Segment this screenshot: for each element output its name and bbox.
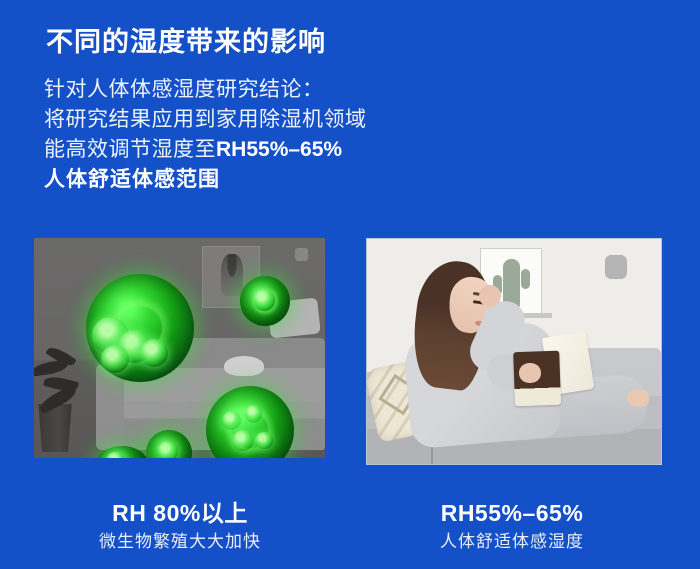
caption-left: RH 80%以上 微生物繁殖大大加快 [30, 498, 330, 555]
caption-right: RH55%–65% 人体舒适体感湿度 [362, 498, 662, 555]
caption-left-title: RH 80%以上 [30, 498, 330, 528]
copy-line-4: 人体舒适体感范围 [44, 165, 474, 195]
copy-line-3-prefix: 能高效调节湿度至 [44, 138, 216, 161]
microbe-icon [86, 274, 194, 382]
copy-line-1: 针对人体体感湿度研究结论： [44, 75, 474, 105]
microbe-nodule [232, 430, 253, 451]
microbe-nodule [106, 452, 125, 458]
humidity-effect-poster: 不同的湿度带来的影响 针对人体体感湿度研究结论： 将研究结果应用到家用除湿机领域… [0, 0, 700, 569]
wall-speaker-icon [295, 248, 308, 261]
photo-right-comfort [366, 238, 662, 465]
caption-right-title: RH55%–65% [362, 498, 662, 528]
caption-left-subtitle: 微生物繁殖大大加快 [30, 528, 330, 555]
page-title: 不同的湿度带来的影响 [46, 20, 326, 59]
copy-line-2: 将研究结果应用到家用除湿机领域 [44, 105, 474, 135]
white-pillow-shape [224, 356, 264, 376]
microbe-nodule [222, 411, 241, 430]
microbe-nodule [140, 339, 168, 367]
woman-reading-figure [367, 239, 661, 464]
caption-right-subtitle: 人体舒适体感湿度 [362, 528, 662, 555]
microbe-nodule [255, 432, 273, 450]
microbe-nodule [245, 405, 263, 423]
microbe-nodule [253, 289, 275, 311]
photo-left-microbes [34, 238, 325, 458]
foot-shape [627, 389, 649, 407]
microbe-icon [240, 276, 290, 326]
microbe-nodule [157, 441, 178, 458]
dark-living-room-scene [34, 238, 325, 458]
hand-holding-book-shape [519, 363, 541, 383]
intro-copy: 针对人体体感湿度研究结论： 将研究结果应用到家用除湿机领域 能高效调节湿度至RH… [44, 75, 474, 195]
bright-living-room-scene [367, 239, 661, 464]
copy-line-3-highlight: RH55%–65% [216, 138, 342, 161]
microbe-nodule [101, 345, 129, 373]
copy-line-3: 能高效调节湿度至RH55%–65% [44, 135, 474, 165]
